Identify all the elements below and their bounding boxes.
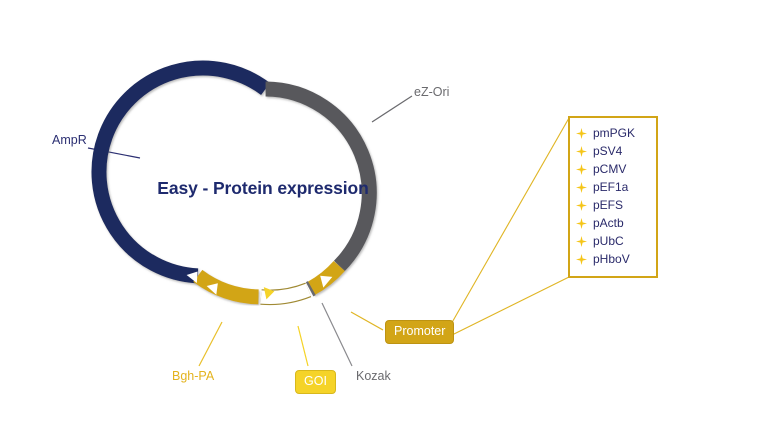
list-item[interactable]: pUbC bbox=[576, 232, 656, 250]
leader-line-promoter bbox=[351, 312, 383, 330]
promoter-option-label: pEFS bbox=[593, 199, 623, 211]
list-item[interactable]: pmPGK bbox=[576, 124, 656, 142]
arrow-ez-ori-icon bbox=[328, 240, 341, 256]
list-item[interactable]: pSV4 bbox=[576, 142, 656, 160]
plasmid-map-diagram: Easy - Protein expression AmpR eZ-Ori Bg… bbox=[0, 0, 768, 427]
leader-line-ez-ori bbox=[372, 96, 412, 122]
segment-kozak[interactable] bbox=[310, 288, 312, 289]
star-icon bbox=[576, 200, 587, 211]
promoter-option-label: pmPGK bbox=[593, 127, 635, 139]
leader-line-goi bbox=[298, 326, 308, 366]
label-promoter-pill[interactable]: Promoter bbox=[385, 320, 454, 344]
star-icon bbox=[576, 182, 587, 193]
star-icon bbox=[576, 146, 587, 157]
label-kozak: Kozak bbox=[356, 369, 391, 383]
leader-line-kozak bbox=[322, 303, 352, 366]
list-item[interactable]: pCMV bbox=[576, 160, 656, 178]
promoter-option-label: pHboV bbox=[593, 253, 630, 265]
list-item[interactable]: pEFS bbox=[576, 196, 656, 214]
star-icon bbox=[576, 164, 587, 175]
star-icon bbox=[576, 128, 587, 139]
label-ez-ori: eZ-Ori bbox=[414, 85, 449, 99]
label-ampr: AmpR bbox=[52, 133, 87, 147]
list-item[interactable]: pActb bbox=[576, 214, 656, 232]
leader-line-bgh-pa bbox=[199, 322, 222, 366]
label-bgh-pa: Bgh-PA bbox=[172, 369, 214, 383]
list-item[interactable]: pHboV bbox=[576, 250, 656, 268]
list-item[interactable]: pEF1a bbox=[576, 178, 656, 196]
promoter-option-label: pCMV bbox=[593, 163, 626, 175]
promoter-option-label: pSV4 bbox=[593, 145, 622, 157]
promoter-option-label: pActb bbox=[593, 217, 624, 229]
label-goi-pill[interactable]: GOI bbox=[295, 370, 336, 394]
promoter-option-label: pUbC bbox=[593, 235, 624, 247]
segment-ampr[interactable] bbox=[99, 68, 266, 276]
page-title: Easy - Protein expression bbox=[150, 178, 376, 199]
star-icon bbox=[576, 254, 587, 265]
promoter-option-label: pEF1a bbox=[593, 181, 628, 193]
segment-bgh-pa[interactable] bbox=[198, 276, 259, 297]
callout-line-top bbox=[450, 118, 569, 326]
promoter-options-list: pmPGK pSV4 pCMV pEF1a bbox=[568, 116, 658, 278]
callout-connector bbox=[450, 118, 569, 336]
callout-line-bottom bbox=[450, 277, 569, 336]
star-icon bbox=[576, 236, 587, 247]
star-icon bbox=[576, 218, 587, 229]
